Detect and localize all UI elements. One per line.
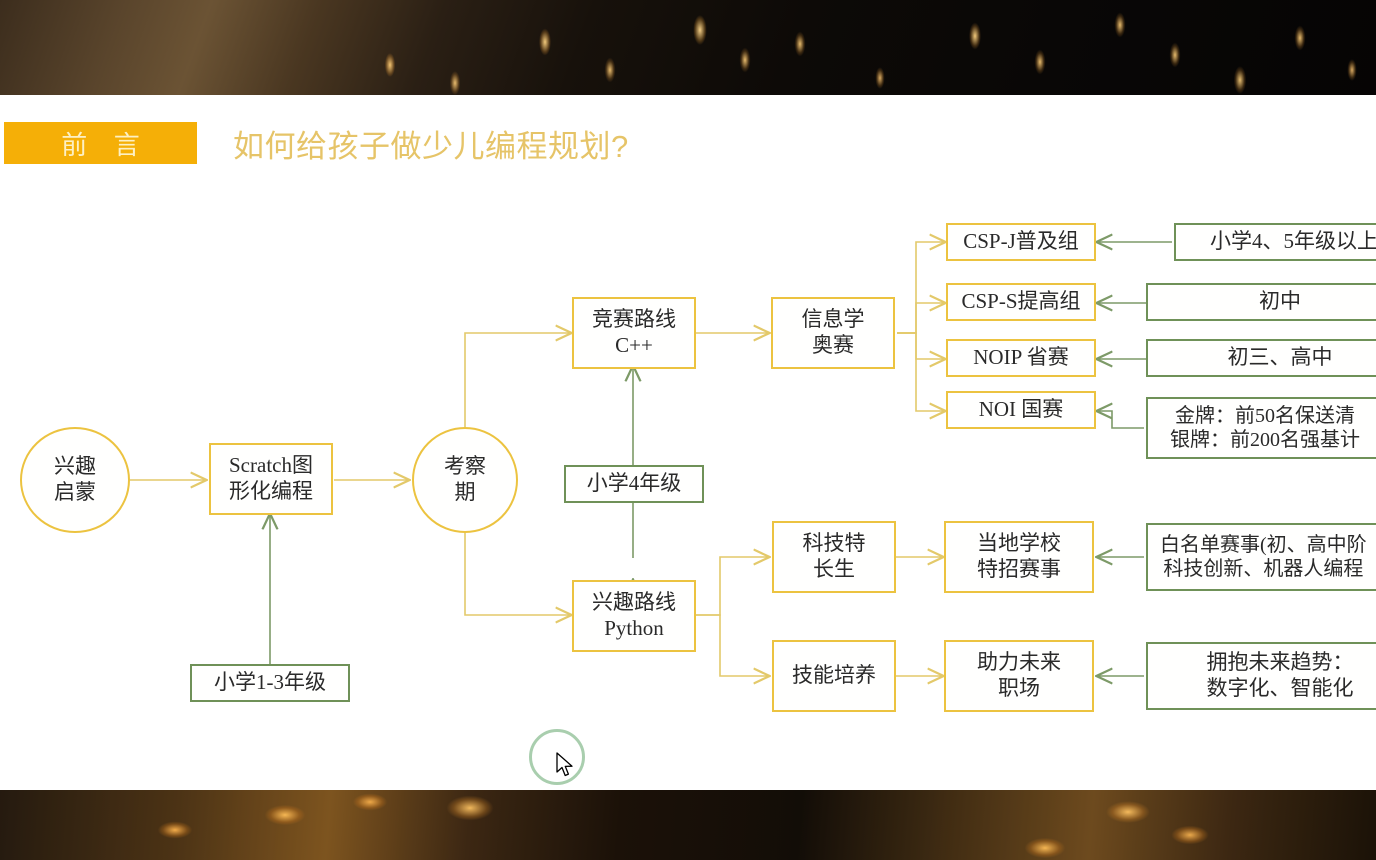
flowchart-canvas: 兴趣 启蒙 Scratch图 形化编程 小学1-3年级 考察 期 竞赛路线 C+… <box>0 95 1376 790</box>
node-future-career[interactable]: 助力未来 职场 <box>944 640 1094 712</box>
top-decorative-image-band <box>0 0 1376 95</box>
node-csp-s-requirement[interactable]: 初中 <box>1146 283 1376 321</box>
node-grade-4[interactable]: 小学4年级 <box>564 465 704 503</box>
node-tech-talent[interactable]: 科技特 长生 <box>772 521 896 593</box>
node-csp-j[interactable]: CSP-J普及组 <box>946 223 1096 261</box>
node-noip-requirement[interactable]: 初三、高中 <box>1146 339 1376 377</box>
node-evaluation[interactable]: 考察 期 <box>412 427 518 533</box>
node-csp-j-requirement[interactable]: 小学4、5年级以上 <box>1174 223 1376 261</box>
mouse-cursor <box>556 752 576 780</box>
node-scratch[interactable]: Scratch图 形化编程 <box>209 443 333 515</box>
node-future-trend[interactable]: 拥抱未来趋势： 数字化、智能化 <box>1146 642 1376 710</box>
node-grade-1-3[interactable]: 小学1-3年级 <box>190 664 350 702</box>
top-band-image <box>0 0 1376 95</box>
node-interest-start[interactable]: 兴趣 启蒙 <box>20 427 130 533</box>
video-player-screen: 前 言 如何给孩子做少儿编程规划? <box>0 0 1376 860</box>
node-noi[interactable]: NOI 国赛 <box>946 391 1096 429</box>
node-interest-route[interactable]: 兴趣路线 Python <box>572 580 696 652</box>
node-competition-route[interactable]: 竞赛路线 C++ <box>572 297 696 369</box>
node-noip[interactable]: NOIP 省赛 <box>946 339 1096 377</box>
bottom-band-image <box>0 790 1376 860</box>
node-informatics-olympiad[interactable]: 信息学 奥赛 <box>771 297 895 369</box>
presentation-slide: 前 言 如何给孩子做少儿编程规划? <box>0 95 1376 790</box>
node-skill-training[interactable]: 技能培养 <box>772 640 896 712</box>
node-csp-s[interactable]: CSP-S提高组 <box>946 283 1096 321</box>
node-noi-reward[interactable]: 金牌：前50名保送清 银牌：前200名强基计 <box>1146 397 1376 459</box>
node-whitelist-events[interactable]: 白名单赛事(初、高中阶 科技创新、机器人编程 <box>1146 523 1376 591</box>
node-local-school[interactable]: 当地学校 特招赛事 <box>944 521 1094 593</box>
bottom-decorative-image-band <box>0 790 1376 860</box>
